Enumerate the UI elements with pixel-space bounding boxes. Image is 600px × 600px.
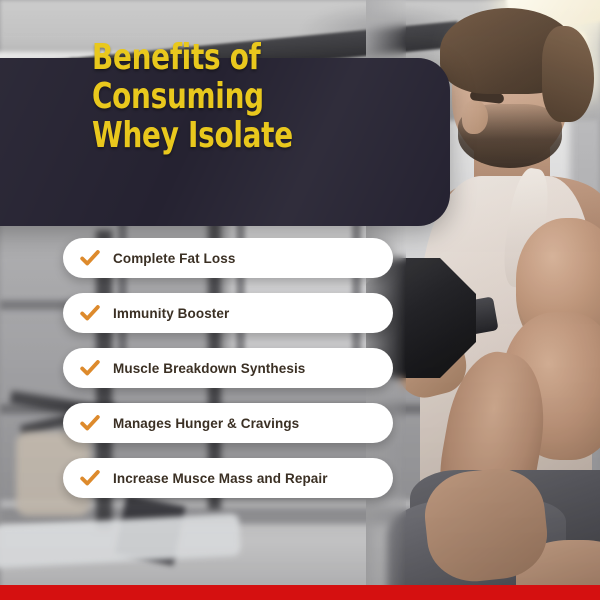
whey-isolate-benefits-poster: Benefits of Consuming Whey Isolate Compl… xyxy=(0,0,600,600)
check-icon xyxy=(79,302,101,324)
list-item-label: Manages Hunger & Cravings xyxy=(113,416,299,431)
list-item[interactable]: Increase Musce Mass and Repair xyxy=(63,458,393,498)
list-item-label: Immunity Booster xyxy=(113,306,229,321)
list-item[interactable]: Manages Hunger & Cravings xyxy=(63,403,393,443)
title-line-2: Whey Isolate xyxy=(92,116,398,155)
check-icon xyxy=(79,467,101,489)
list-item[interactable]: Immunity Booster xyxy=(63,293,393,333)
check-icon xyxy=(79,357,101,379)
bottom-accent-bar xyxy=(0,585,600,600)
title-line-1: Benefits of Consuming xyxy=(92,37,264,117)
list-item[interactable]: Muscle Breakdown Synthesis xyxy=(63,348,393,388)
page-title: Benefits of Consuming Whey Isolate xyxy=(92,38,398,155)
check-icon xyxy=(79,247,101,269)
list-item[interactable]: Complete Fat Loss xyxy=(63,238,393,278)
list-item-label: Muscle Breakdown Synthesis xyxy=(113,361,305,376)
benefits-list: Complete Fat Loss Immunity Booster Muscl… xyxy=(63,238,393,498)
check-icon xyxy=(79,412,101,434)
list-item-label: Increase Musce Mass and Repair xyxy=(113,471,328,486)
list-item-label: Complete Fat Loss xyxy=(113,251,235,266)
